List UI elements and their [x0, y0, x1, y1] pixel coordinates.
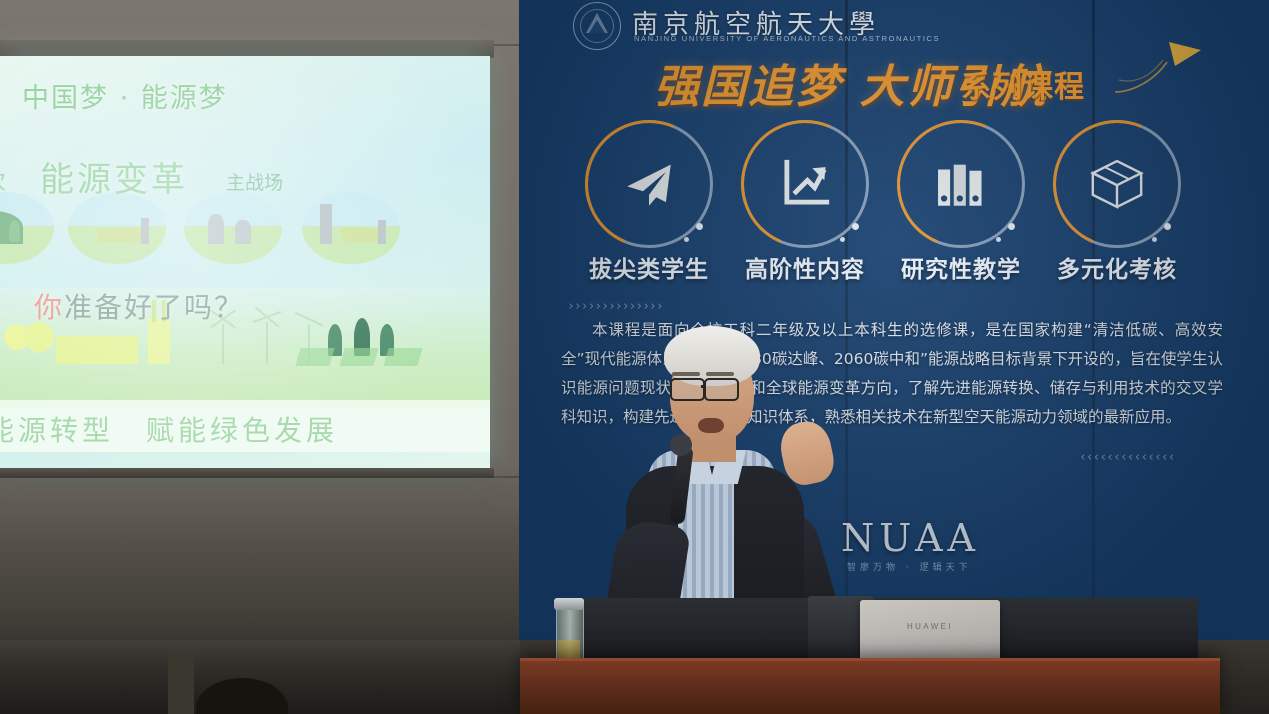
slide-thumbnail-industrial [302, 192, 400, 264]
speaker-mouth [698, 418, 724, 433]
feature-circle-2 [741, 120, 869, 248]
slide-thumbnail-forest [0, 192, 54, 264]
slide-solar-panel [295, 348, 334, 366]
circle-orbit-dot [696, 223, 703, 230]
slide-thumbnail-field [68, 192, 166, 264]
chevrons-right-decoration: ‹‹‹‹‹‹‹‹‹‹‹‹‹‹ [1079, 450, 1175, 465]
circle-orbit-dot-small [840, 237, 845, 242]
feature-label-4: 多元化考核 [1043, 250, 1191, 284]
circle-orbit-dot [852, 223, 859, 230]
slide-title: 中国梦 · 能源梦 [22, 76, 228, 115]
nuaa-motto: 智廖万物 · 逻辑天下 [847, 560, 972, 573]
slide-heading: 能源变革 [40, 152, 188, 201]
circle-orbit-dot-small [1152, 237, 1157, 242]
slide-left-fragment: 次 [0, 164, 6, 196]
laptop-brand-label: HUAWEI [860, 622, 1000, 631]
paper-plane-icon [620, 155, 678, 213]
speaker-eyebrow-right [706, 372, 734, 376]
speaker-eyeglass-left [670, 378, 705, 401]
feature-circle-3 [897, 120, 1025, 248]
box-3d-icon [1088, 155, 1146, 213]
thermos-cap [554, 598, 584, 610]
projection-screen: 中国梦 · 能源梦 次 能源变革 主战场 你准备好了吗？ 能源转型 赋能绿色发展 [0, 56, 490, 470]
seal-triangle-inner [589, 20, 605, 33]
thumb-building [97, 228, 141, 242]
slide-right-label: 主战场 [226, 168, 283, 195]
circle-orbit-dot-small [996, 237, 1001, 242]
feature-label-3: 研究性教学 [887, 250, 1035, 284]
feature-label-2: 高阶性内容 [731, 250, 879, 284]
speaker-eyeglass-right [704, 378, 739, 401]
screen-frame-bottom [0, 468, 494, 478]
feature-circle-1 [585, 120, 713, 248]
circle-orbit-dot [1008, 223, 1015, 230]
circle-orbit-dot-small [684, 237, 689, 242]
circle-orbit-dot [1164, 223, 1171, 230]
thumb-stack [378, 220, 386, 244]
university-name-en: NANJING UNIVERSITY OF AERONAUTICS AND AS… [634, 34, 940, 43]
foreground-column [168, 654, 194, 714]
thumb-cooling-tower [235, 220, 251, 244]
slide-factory-building [56, 336, 138, 364]
slide-solar-panel [339, 348, 378, 366]
thumb-tree [9, 220, 20, 242]
chevrons-left-decoration: ›››››››››››››› [567, 299, 663, 314]
thumb-ground [184, 226, 282, 264]
thumb-stack [320, 204, 332, 244]
slide-question: 你准备好了吗？ [34, 286, 244, 326]
slide-thumbnail-cooling-towers [184, 192, 282, 264]
wind-turbine-mast [266, 322, 268, 364]
speaker-eyebrow-left [672, 372, 700, 376]
rising-chart-arrow-icon [776, 155, 834, 213]
speaker-white-hair [664, 326, 760, 386]
huawei-laptop: HUAWEI [860, 600, 1000, 662]
paper-plane-swoosh-icon [1109, 36, 1205, 100]
feature-circle-4 [1053, 120, 1181, 248]
thumb-sky [184, 192, 282, 226]
slide-solar-panel [383, 348, 422, 366]
feature-label-1: 拔尖类学生 [575, 250, 723, 284]
nuaa-seal-logo-icon [573, 2, 621, 50]
banner-headline-tail: 系列课程 [961, 62, 1085, 106]
wooden-podium [520, 658, 1220, 714]
slide-solar-dish [24, 322, 54, 352]
thumb-stack [141, 218, 149, 244]
binders-icon [932, 155, 990, 213]
thumb-cooling-tower [208, 214, 224, 244]
speaker-eyeglass-bridge [701, 385, 706, 388]
slide-footer-text: 能源转型 赋能绿色发展 [0, 409, 338, 449]
wind-turbine-mast [222, 324, 224, 364]
slide-question-highlight: 你 [34, 291, 64, 324]
slide-question-rest: 准备好了吗？ [64, 291, 244, 324]
microphone-head-icon [670, 434, 692, 456]
lecture-hall-photo: 中国梦 · 能源梦 次 能源变革 主战场 你准备好了吗？ 能源转型 赋能绿色发展… [0, 0, 1269, 714]
